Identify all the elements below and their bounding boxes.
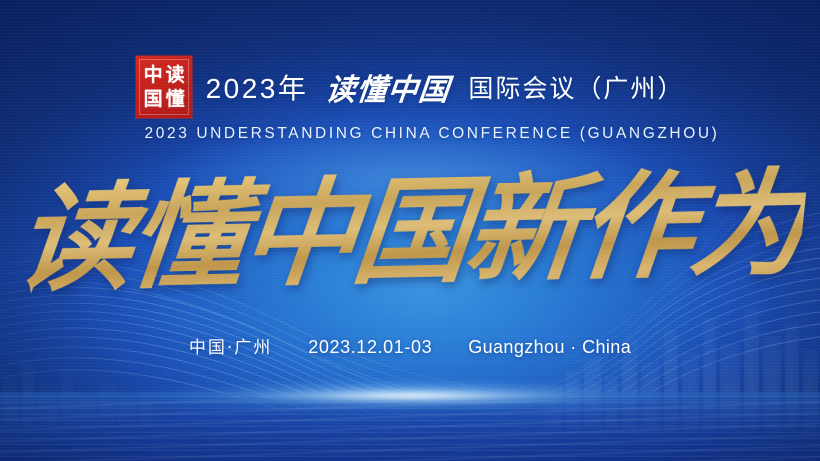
footer-location-cn: 中国·广州 (189, 333, 272, 358)
main-calligraphy-text: 读懂中国新作为 (9, 150, 810, 316)
footer-date: 2023.12.01-03 (308, 337, 432, 358)
header-block: 中 读 国 懂 2023年 读懂中国 国际会议（广州） 2023 UNDERST… (0, 56, 820, 143)
seal-char-2: 读 (164, 63, 186, 87)
header-brush-title: 读懂中国 (324, 65, 453, 109)
understanding-china-seal-icon: 中 读 国 懂 (136, 56, 192, 118)
footer-info-line: 中国·广州 2023.12.01-03 Guangzhou · China (0, 333, 820, 358)
seal-char-3: 国 (142, 87, 164, 111)
footer-location-en: Guangzhou · China (468, 337, 631, 358)
conference-poster: 中 读 国 懂 2023年 读懂中国 国际会议（广州） 2023 UNDERST… (0, 0, 820, 461)
main-calligraphy-block: 读懂中国新作为 (0, 158, 820, 308)
header-main-line: 中 读 国 懂 2023年 读懂中国 国际会议（广州） (136, 56, 685, 118)
header-conference-name: 国际会议（广州） (468, 69, 684, 105)
header-year: 2023年 (206, 67, 309, 107)
seal-char-1: 中 (142, 63, 164, 87)
seal-char-4: 懂 (164, 87, 186, 111)
header-subtitle-english: 2023 UNDERSTANDING CHINA CONFERENCE (GUA… (101, 125, 720, 143)
